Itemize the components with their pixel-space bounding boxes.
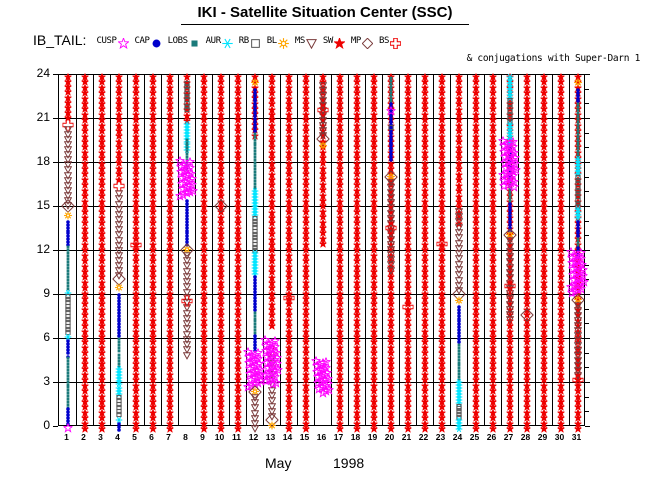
legend-entry-ms: MS bbox=[295, 34, 319, 47]
marker-sw bbox=[217, 418, 224, 437]
marker-sw bbox=[302, 418, 309, 437]
y-tick-label: 0 bbox=[26, 418, 50, 432]
gridline-vertical bbox=[212, 75, 213, 425]
gridline-vertical bbox=[518, 75, 519, 425]
y-minor-tick bbox=[585, 191, 589, 192]
legend-label-cap: CAP bbox=[135, 36, 150, 47]
marker-sw bbox=[81, 418, 88, 437]
legend-entry-cusp: CUSP bbox=[96, 34, 130, 47]
legend-entry-rb: RB bbox=[239, 34, 263, 47]
square-teal-icon bbox=[189, 34, 202, 47]
y-minor-tick bbox=[585, 103, 589, 104]
marker-sw bbox=[336, 418, 343, 437]
y-tick-mark bbox=[53, 426, 58, 427]
y-minor-tick bbox=[585, 235, 589, 236]
marker-sw bbox=[540, 418, 547, 437]
marker-bs bbox=[317, 101, 328, 120]
gridline-vertical bbox=[365, 75, 366, 425]
legend-entry-cap: CAP bbox=[135, 34, 164, 47]
marker-ms bbox=[387, 259, 395, 278]
x-tick-label: 16 bbox=[314, 432, 330, 442]
y-minor-tick bbox=[585, 323, 589, 324]
legend-entry-mp: MP bbox=[351, 34, 375, 47]
marker-bs bbox=[504, 277, 515, 296]
circle-blue-icon bbox=[151, 34, 164, 47]
marker-bs bbox=[402, 297, 413, 316]
gridline-vertical bbox=[467, 75, 468, 425]
y-minor-tick bbox=[585, 177, 589, 178]
legend-series-label: IB_TAIL: bbox=[33, 32, 86, 48]
legend-entry-aur: AUR bbox=[206, 34, 235, 47]
marker-ms bbox=[251, 418, 259, 437]
y-tick-mark-right bbox=[585, 162, 590, 163]
gridline-vertical bbox=[552, 75, 553, 425]
legend-items: CUSPCAPLOBSAURRBBLMSSWMPBS bbox=[96, 34, 406, 47]
gridline-vertical bbox=[127, 75, 128, 425]
gridline-vertical bbox=[110, 75, 111, 425]
y-tick-label: 12 bbox=[26, 242, 50, 256]
legend-label-sw: SW bbox=[323, 36, 333, 47]
gridline-vertical bbox=[229, 75, 230, 425]
marker-bs bbox=[385, 218, 396, 237]
open-square-gray-icon bbox=[250, 34, 263, 47]
legend-label-aur: AUR bbox=[206, 36, 221, 47]
marker-bl bbox=[319, 134, 327, 153]
gridline-vertical bbox=[450, 75, 451, 425]
marker-sw bbox=[506, 418, 513, 437]
x-tick-label: 8 bbox=[178, 432, 194, 442]
y-tick-mark-right bbox=[585, 74, 590, 75]
marker-sw bbox=[387, 418, 394, 437]
gridline-vertical bbox=[348, 75, 349, 425]
x-axis-month: May bbox=[265, 455, 291, 471]
legend-entry-bl: BL bbox=[267, 34, 291, 47]
marker-sw bbox=[472, 418, 479, 437]
y-minor-tick bbox=[585, 147, 589, 148]
y-tick-mark-right bbox=[585, 338, 590, 339]
marker-sw bbox=[370, 418, 377, 437]
gridline-vertical bbox=[161, 75, 162, 425]
marker-bs bbox=[283, 288, 294, 307]
conjugation-note: & conjugations with Super-Darn 1 bbox=[467, 53, 640, 64]
gridline-vertical bbox=[297, 75, 298, 425]
legend-label-lobs: LOBS bbox=[168, 36, 188, 47]
asterisk-cyan-icon bbox=[222, 34, 235, 47]
cross-red-icon bbox=[390, 34, 403, 47]
marker-cap bbox=[388, 148, 393, 167]
y-tick-mark-right bbox=[585, 206, 590, 207]
legend-label-bs: BS bbox=[379, 36, 389, 47]
legend-label-bl: BL bbox=[267, 36, 277, 47]
marker-sw bbox=[98, 418, 105, 437]
marker-sw bbox=[319, 233, 326, 252]
gridline-vertical bbox=[178, 75, 179, 425]
marker-mp bbox=[520, 306, 533, 325]
y-minor-tick bbox=[585, 353, 589, 354]
legend-entry-sw: SW bbox=[323, 34, 347, 47]
marker-ms bbox=[506, 309, 514, 328]
marker-cusp bbox=[318, 382, 327, 401]
sunburst-orange-icon bbox=[278, 34, 291, 47]
marker-sw bbox=[132, 418, 139, 437]
y-minor-tick bbox=[585, 89, 589, 90]
x-axis-year: 1998 bbox=[333, 455, 364, 471]
marker-ms bbox=[183, 344, 191, 363]
y-tick-mark-right bbox=[585, 382, 590, 383]
marker-sw bbox=[557, 418, 564, 437]
y-minor-tick bbox=[585, 397, 589, 398]
diamond-brown-icon bbox=[362, 34, 375, 47]
gridline-vertical bbox=[382, 75, 383, 425]
y-tick-mark-right bbox=[585, 426, 590, 427]
marker-mp bbox=[214, 198, 227, 217]
marker-bs bbox=[130, 236, 141, 255]
legend-label-mp: MP bbox=[351, 36, 361, 47]
marker-sw bbox=[234, 418, 241, 437]
gridline-vertical bbox=[535, 75, 536, 425]
gridline-vertical bbox=[501, 75, 502, 425]
y-tick-mark-right bbox=[585, 294, 590, 295]
chart-page: IKI - Satellite Situation Center (SSC) I… bbox=[0, 0, 650, 500]
marker-sw bbox=[404, 418, 411, 437]
y-tick-label: 21 bbox=[26, 110, 50, 124]
gridline-vertical bbox=[399, 75, 400, 425]
gridline-vertical bbox=[484, 75, 485, 425]
marker-sw bbox=[523, 418, 530, 437]
marker-bl bbox=[268, 415, 276, 434]
marker-bs bbox=[181, 291, 192, 310]
y-minor-tick bbox=[585, 133, 589, 134]
legend-label-cusp: CUSP bbox=[96, 36, 116, 47]
marker-sw bbox=[574, 418, 581, 437]
marker-cap bbox=[116, 418, 121, 437]
y-minor-tick bbox=[585, 309, 589, 310]
gridline-vertical bbox=[144, 75, 145, 425]
y-tick-label: 15 bbox=[26, 198, 50, 212]
y-tick-label: 18 bbox=[26, 154, 50, 168]
page-title: IKI - Satellite Situation Center (SSC) bbox=[0, 4, 650, 21]
legend-label-ms: MS bbox=[295, 36, 305, 47]
marker-sw bbox=[489, 418, 496, 437]
legend-entry-bs: BS bbox=[379, 34, 403, 47]
gridline-vertical bbox=[416, 75, 417, 425]
marker-sw bbox=[421, 418, 428, 437]
triangle-down-brown-icon bbox=[306, 34, 319, 47]
y-tick-label: 24 bbox=[26, 66, 50, 80]
marker-cusp bbox=[63, 418, 72, 437]
marker-sw bbox=[285, 418, 292, 437]
y-tick-label: 6 bbox=[26, 330, 50, 344]
y-minor-tick bbox=[585, 221, 589, 222]
marker-rb bbox=[184, 98, 190, 117]
gridline-vertical bbox=[195, 75, 196, 425]
y-tick-mark-right bbox=[585, 118, 590, 119]
marker-rb bbox=[388, 115, 394, 134]
marker-sw bbox=[438, 418, 445, 437]
legend: IB_TAIL: CUSPCAPLOBSAURRBBLMSSWMPBS bbox=[33, 30, 633, 50]
star-red-icon bbox=[334, 34, 347, 47]
y-minor-tick bbox=[585, 367, 589, 368]
gridline-vertical bbox=[76, 75, 77, 425]
y-tick-label: 3 bbox=[26, 374, 50, 388]
legend-label-rb: RB bbox=[239, 36, 249, 47]
marker-bs bbox=[572, 371, 583, 390]
star-magenta-icon bbox=[118, 34, 131, 47]
marker-sw bbox=[200, 418, 207, 437]
marker-bs bbox=[436, 234, 447, 253]
gridline-vertical bbox=[433, 75, 434, 425]
title-underline bbox=[181, 24, 469, 25]
legend-entry-lobs: LOBS bbox=[168, 34, 202, 47]
marker-sw bbox=[149, 418, 156, 437]
y-minor-tick bbox=[585, 411, 589, 412]
plot-area bbox=[58, 74, 585, 426]
y-tick-label: 9 bbox=[26, 286, 50, 300]
marker-sw bbox=[166, 418, 173, 437]
marker-aur bbox=[455, 418, 462, 437]
gridline-vertical bbox=[93, 75, 94, 425]
marker-cusp bbox=[268, 374, 277, 393]
marker-sw bbox=[353, 418, 360, 437]
